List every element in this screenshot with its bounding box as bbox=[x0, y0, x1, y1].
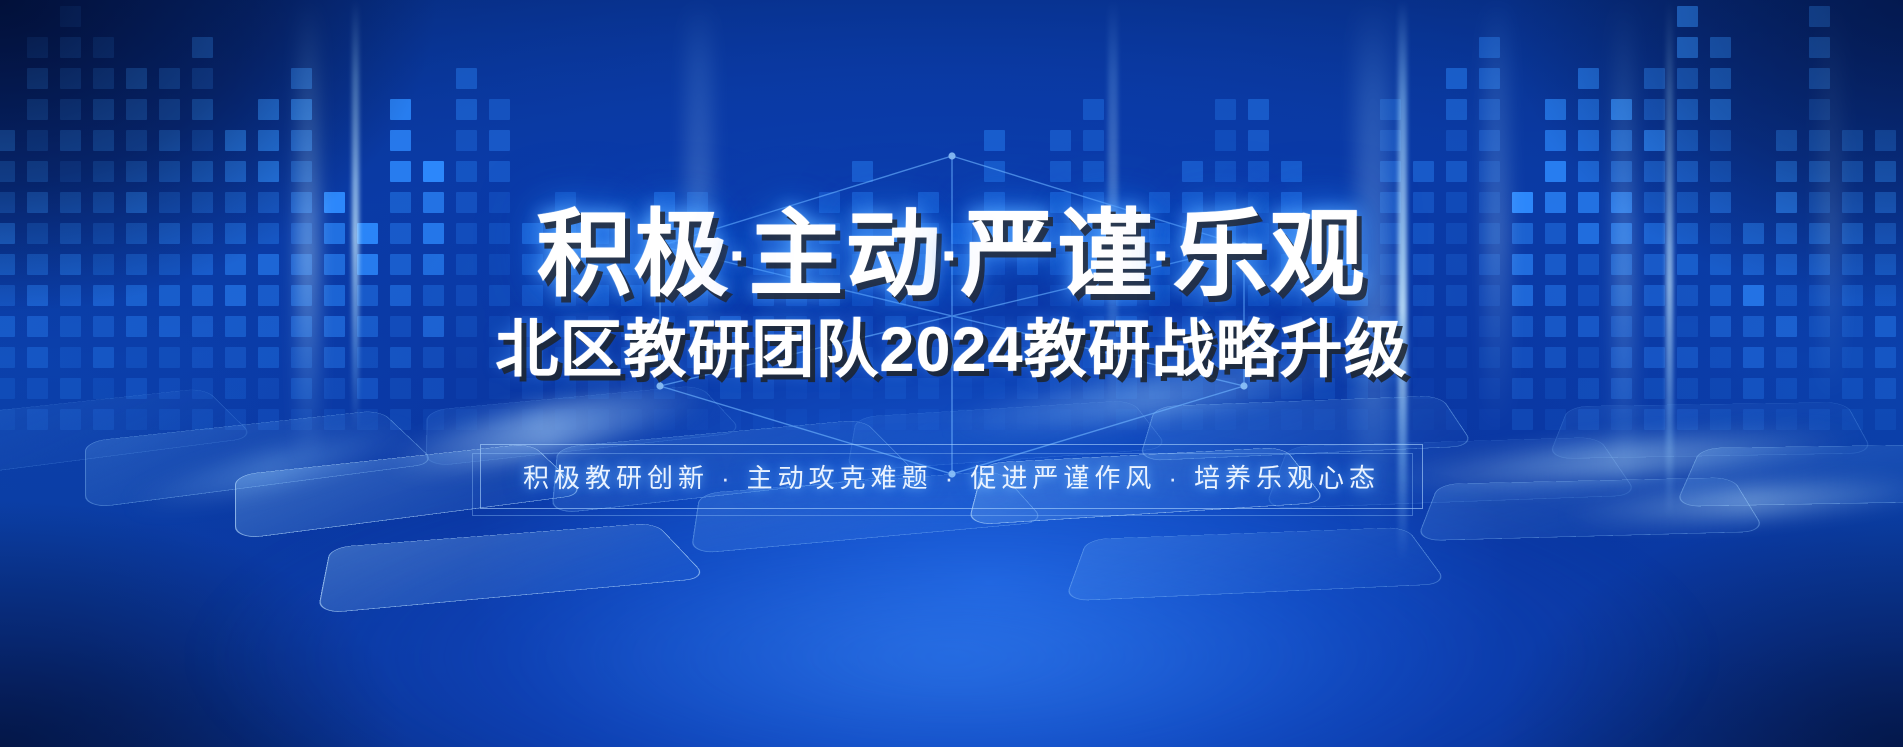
title-part-4: 乐观 bbox=[1172, 202, 1366, 308]
tagline-item-2: 主动攻克难题 bbox=[747, 463, 933, 493]
tagline-text: 积极教研创新·主动攻克难题·促进严谨作风·培养乐观心态 bbox=[523, 458, 1380, 495]
title-part-3: 严谨 bbox=[960, 202, 1154, 308]
tagline-separator-3: · bbox=[1168, 463, 1182, 493]
title-part-1: 积极 bbox=[536, 202, 730, 308]
tagline-item-3: 促进严谨作风 bbox=[970, 463, 1156, 493]
tagline-item-1: 积极教研创新 bbox=[523, 463, 709, 493]
promo-banner: 积极·主动·严谨·乐观 北区教研团队2024教研战略升级 积极教研创新·主动攻克… bbox=[0, 0, 1903, 747]
title-separator-2: · bbox=[941, 226, 963, 286]
title-separator-3: · bbox=[1153, 226, 1175, 286]
banner-content: 积极·主动·严谨·乐观 北区教研团队2024教研战略升级 积极教研创新·主动攻克… bbox=[0, 0, 1903, 747]
title-part-2: 主动 bbox=[748, 202, 942, 308]
tagline-separator-1: · bbox=[721, 463, 735, 493]
tagline-frame: 积极教研创新·主动攻克难题·促进严谨作风·培养乐观心态 bbox=[480, 444, 1423, 509]
tagline-item-4: 培养乐观心态 bbox=[1194, 463, 1380, 493]
title-separator-1: · bbox=[729, 226, 751, 286]
page-title: 积极·主动·严谨·乐观 bbox=[536, 208, 1366, 303]
tagline-separator-2: · bbox=[945, 463, 959, 493]
page-subtitle: 北区教研团队2024教研战略升级 bbox=[495, 319, 1407, 382]
